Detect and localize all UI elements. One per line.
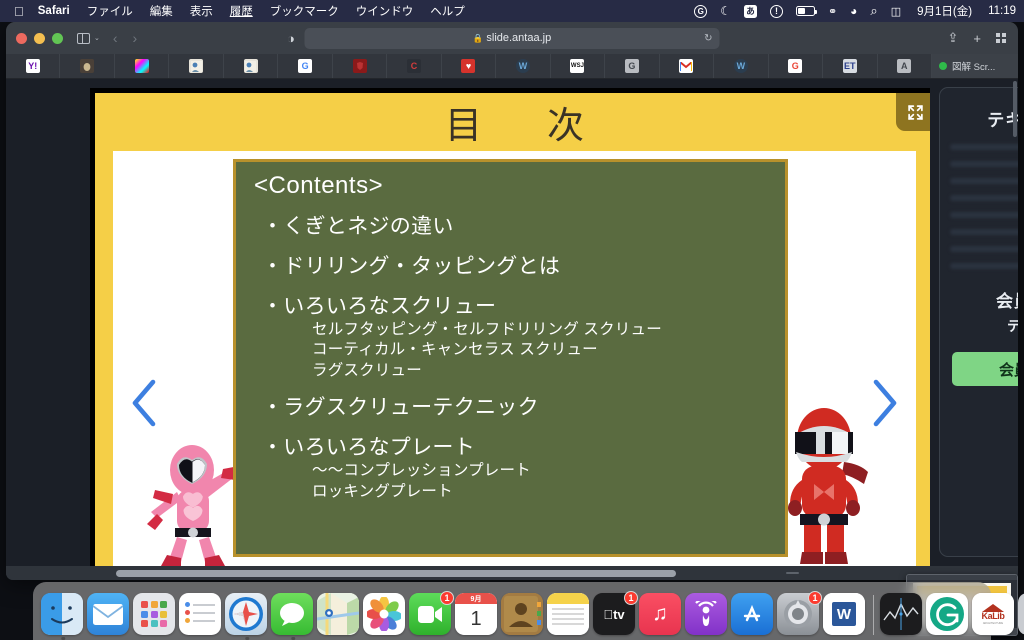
bookmark-et[interactable]: ET bbox=[823, 54, 877, 78]
url-text: slide.antaa.jp bbox=[486, 32, 551, 44]
dock-finder-running-dot bbox=[61, 637, 65, 640]
bookmark-heart-red[interactable]: ♥ bbox=[442, 54, 496, 78]
control-center-icon[interactable]: ◫ bbox=[891, 5, 901, 18]
bookmark-a-gray[interactable]: A bbox=[878, 54, 932, 78]
safari-window: ⌄ ‹ › ◑ 🔒 slide.antaa.jp ↻ ⇪ + Y!GC♥WWSJ… bbox=[6, 22, 1018, 580]
bookmark-gmail-favicon bbox=[679, 59, 693, 73]
sidebar-subtitle-2: テ bbox=[940, 316, 1018, 336]
dock-maps[interactable] bbox=[317, 593, 361, 637]
bookmark-dark-thumb-favicon bbox=[80, 59, 94, 73]
dock-system-settings-badge: 1 bbox=[808, 591, 822, 605]
clock-circle-icon[interactable]: ! bbox=[770, 5, 783, 18]
dock-reminders[interactable] bbox=[179, 593, 223, 637]
bookmark-crest-red[interactable] bbox=[333, 54, 387, 78]
tab-overview-icon[interactable] bbox=[996, 33, 1006, 43]
window-controls[interactable] bbox=[16, 33, 63, 44]
red-hero-mascot bbox=[780, 404, 868, 567]
dock-finder-icon bbox=[41, 593, 83, 635]
contents-subitem-8: 〜〜コンプレッションプレート bbox=[312, 461, 785, 481]
contents-item-6: ・ラグスクリューテクニック bbox=[262, 391, 785, 421]
menu-item-history[interactable]: 履歴 bbox=[230, 3, 253, 19]
dock-appletv[interactable]: tv1 bbox=[593, 593, 637, 637]
slide-title: 目 次 bbox=[95, 93, 934, 151]
dock-contacts[interactable] bbox=[501, 593, 545, 637]
dock-kalib[interactable]: KaLibARCHITECTURE bbox=[972, 593, 1016, 637]
dock-system-settings[interactable]: 1 bbox=[777, 593, 821, 637]
dock-safari[interactable] bbox=[225, 593, 269, 637]
expand-arrows-icon bbox=[907, 104, 924, 121]
chevron-left-icon bbox=[127, 377, 161, 429]
dock-podcasts-icon bbox=[685, 593, 727, 635]
contents-subitem-3: セルフタッピング・セルフドリリング スクリュー bbox=[312, 320, 785, 340]
input-source-japanese-icon[interactable]: あ bbox=[744, 5, 757, 18]
contents-box: <Contents> ・くぎとネジの違い ・ドリリング・タッピングとは ・いろい… bbox=[233, 159, 788, 557]
slide-body: <Contents> ・くぎとネジの違い ・ドリリング・タッピングとは ・いろい… bbox=[113, 151, 916, 567]
contents-heading: <Contents> bbox=[254, 172, 785, 200]
bookmark-google-favicon: G bbox=[298, 59, 312, 73]
dock-calendar-icon: 9月1 bbox=[455, 593, 497, 635]
toggle-sidebar-button[interactable]: ⌄ bbox=[77, 33, 100, 44]
bookmark-wsj-favicon: WSJ bbox=[570, 59, 584, 73]
bookmark-google[interactable]: G bbox=[278, 54, 332, 78]
dock-music[interactable]: ♫ bbox=[639, 593, 683, 637]
contents-item-7: ・いろいろなプレート bbox=[262, 431, 785, 461]
menu-item-help[interactable]: ヘルプ bbox=[430, 3, 465, 19]
tab-label: 図解 Scr... bbox=[952, 59, 995, 73]
macos-menu-bar:  Safari ファイル 編集 表示 履歴 ブックマーク ウインドウ ヘルプ … bbox=[0, 0, 1024, 22]
new-tab-button[interactable]: + bbox=[973, 31, 981, 46]
dock-finder[interactable] bbox=[41, 593, 85, 637]
battery-icon[interactable] bbox=[796, 6, 815, 16]
safari-toolbar: ⌄ ‹ › ◑ 🔒 slide.antaa.jp ↻ ⇪ + bbox=[6, 22, 1018, 54]
close-window-button[interactable] bbox=[16, 33, 27, 44]
dock-calendar[interactable]: 9月1 bbox=[455, 593, 499, 637]
forward-button[interactable]: › bbox=[133, 30, 138, 46]
nav-arrows[interactable]: ‹ › bbox=[113, 30, 137, 46]
dock-facetime[interactable]: 1 bbox=[409, 593, 453, 637]
pink-hero-mascot bbox=[147, 442, 239, 567]
bookmark-wordpress-1-favicon: W bbox=[516, 59, 530, 73]
dock-disc-utility[interactable] bbox=[1018, 593, 1024, 637]
macos-dock: 19月1tv1♫1WKaLibARCHITECTURE bbox=[33, 582, 991, 640]
web-page-content: 目 次 bbox=[6, 79, 1018, 580]
contents-subitem-5: ラグスクリュー bbox=[312, 361, 785, 381]
bookmark-dark-thumb[interactable] bbox=[60, 54, 114, 78]
share-icon[interactable]: ⇪ bbox=[948, 30, 959, 46]
dock-photos[interactable] bbox=[363, 593, 407, 637]
dock-separator-1 bbox=[873, 595, 874, 635]
reload-button[interactable]: ↻ bbox=[704, 33, 712, 44]
privacy-report-icon[interactable]: ◑ bbox=[287, 31, 295, 46]
menu-item-safari[interactable]: Safari bbox=[38, 5, 70, 17]
contents-item-2: ・いろいろなスクリュー bbox=[262, 290, 785, 320]
bookmark-wordpress-2[interactable]: W bbox=[714, 54, 768, 78]
bookmark-yahoo[interactable]: Y! bbox=[6, 54, 60, 78]
dock-mail-icon bbox=[87, 593, 129, 635]
contents-inner: <Contents> ・くぎとネジの違い ・ドリリング・タッピングとは ・いろい… bbox=[236, 162, 785, 502]
contents-subitem-4: コーティカル・キャンセラス スクリュー bbox=[312, 340, 785, 360]
dock-app-store-icon bbox=[731, 593, 773, 635]
bookmark-wordpress-1[interactable]: W bbox=[496, 54, 550, 78]
night-shift-moon-icon[interactable]: ☾ bbox=[720, 4, 731, 18]
dock-contacts-icon bbox=[501, 593, 543, 635]
dock-disc-utility-icon bbox=[1018, 593, 1024, 635]
dock-stocks-icon bbox=[880, 593, 922, 635]
dock-messages[interactable] bbox=[271, 593, 315, 637]
bookmark-google-2-favicon: G bbox=[788, 59, 802, 73]
dock-messages-icon bbox=[271, 593, 313, 635]
bookmark-doc-2-favicon bbox=[244, 59, 258, 73]
dock-launchpad-icon bbox=[133, 593, 175, 635]
bookmark-colorful-favicon bbox=[135, 59, 149, 73]
bookmark-et-favicon: ET bbox=[843, 59, 857, 73]
time-machine-icon[interactable]: ◕ bbox=[850, 4, 857, 18]
dock-grammarly-icon bbox=[926, 593, 968, 635]
toolbar-right-actions: ⇪ + bbox=[948, 30, 1007, 46]
dock-stocks[interactable] bbox=[880, 593, 924, 637]
bookmark-g-gray[interactable]: G bbox=[605, 54, 659, 78]
menu-bar-time[interactable]: 11:19 bbox=[988, 5, 1016, 17]
minimize-window-button[interactable] bbox=[34, 33, 45, 44]
dock-safari-running-dot bbox=[245, 637, 249, 640]
lock-icon: 🔒 bbox=[473, 33, 484, 44]
scrollbar-thumb[interactable] bbox=[116, 570, 676, 577]
dock-grammarly[interactable] bbox=[926, 593, 970, 637]
bookmark-doc-1-favicon bbox=[189, 59, 203, 73]
link-icon[interactable]: ⚭ bbox=[828, 5, 837, 18]
fullscreen-expand-button[interactable] bbox=[896, 93, 934, 131]
bookmark-wsj[interactable]: WSJ bbox=[551, 54, 605, 78]
bookmark-a-gray-favicon: A bbox=[897, 59, 911, 73]
dock-word-icon: W bbox=[823, 593, 865, 635]
grammarly-icon[interactable]: G bbox=[694, 5, 707, 18]
previous-slide-button[interactable] bbox=[127, 377, 161, 436]
dock-notes[interactable] bbox=[547, 593, 591, 637]
dock-appletv-badge: 1 bbox=[624, 591, 638, 605]
page-scrollbar-horizontal[interactable] bbox=[6, 566, 1018, 580]
menu-item-view[interactable]: 表示 bbox=[190, 3, 213, 19]
spotlight-search-icon[interactable]: ⌕ bbox=[870, 3, 877, 19]
bookmark-doc-2[interactable] bbox=[224, 54, 278, 78]
sidebar-title: テキス bbox=[940, 106, 1018, 131]
bookmark-yahoo-favicon: Y! bbox=[26, 59, 40, 73]
menu-item-file[interactable]: ファイル bbox=[87, 3, 133, 19]
menu-bar-date[interactable]: 9月1日(金) bbox=[917, 3, 972, 19]
dock-mail[interactable] bbox=[87, 593, 131, 637]
dock-maps-icon bbox=[317, 593, 359, 635]
dock-facetime-badge: 1 bbox=[440, 591, 454, 605]
bookmark-c-red[interactable]: C bbox=[387, 54, 441, 78]
bookmark-google-2[interactable]: G bbox=[769, 54, 823, 78]
tab-status-dot bbox=[939, 62, 947, 70]
dock-photos-icon bbox=[363, 593, 405, 635]
menu-item-bookmarks[interactable]: ブックマーク bbox=[270, 3, 339, 19]
bookmark-gmail[interactable] bbox=[660, 54, 714, 78]
dock-safari-icon bbox=[225, 593, 267, 635]
contents-item-0: ・くぎとネジの違い bbox=[262, 210, 785, 240]
dock-music-icon: ♫ bbox=[639, 593, 681, 635]
dock-launchpad[interactable] bbox=[133, 593, 177, 637]
dock-reminders-icon bbox=[179, 593, 221, 635]
page-scrollbar-vertical[interactable] bbox=[1013, 81, 1017, 137]
menu-item-edit[interactable]: 編集 bbox=[150, 3, 173, 19]
bookmark-wordpress-2-favicon: W bbox=[734, 59, 748, 73]
address-bar[interactable]: 🔒 slide.antaa.jp ↻ bbox=[305, 28, 720, 49]
menu-item-window[interactable]: ウインドウ bbox=[356, 3, 414, 19]
thumb-titlebar bbox=[907, 575, 1017, 580]
bookmark-doc-1[interactable] bbox=[169, 54, 223, 78]
back-button[interactable]: ‹ bbox=[113, 30, 118, 46]
dock-messages-running-dot bbox=[291, 637, 295, 640]
dock-notes-icon bbox=[547, 593, 589, 635]
bookmark-c-red-favicon: C bbox=[407, 59, 421, 73]
slide: 目 次 bbox=[95, 93, 934, 567]
bookmarks-bar: Y!GC♥WWSJGWGETA図解 Scr... bbox=[6, 54, 1018, 79]
apple-menu-icon[interactable]:  bbox=[14, 5, 24, 18]
chevron-right-icon bbox=[868, 377, 902, 429]
browser-tab-active[interactable]: 図解 Scr... bbox=[932, 54, 1018, 78]
slide-stage: 目 次 bbox=[90, 88, 939, 572]
contents-subitem-9: ロッキングプレート bbox=[312, 482, 785, 502]
bookmark-heart-red-favicon: ♥ bbox=[461, 59, 475, 73]
maximize-window-button[interactable] bbox=[52, 33, 63, 44]
dock-word[interactable]: W bbox=[823, 593, 867, 637]
bookmark-crest-red-favicon bbox=[353, 59, 367, 73]
next-slide-button[interactable] bbox=[868, 377, 902, 436]
dock-kalib-icon: KaLibARCHITECTURE bbox=[972, 593, 1014, 635]
contents-item-1: ・ドリリング・タッピングとは bbox=[262, 250, 785, 280]
bookmark-g-gray-favicon: G bbox=[625, 59, 639, 73]
sidebar-card: テキス 会員 テ 会員 bbox=[939, 87, 1018, 557]
right-sidebar-panel: テキス 会員 テ 会員 bbox=[930, 79, 1018, 580]
sidebar-blurred-text-block-1 bbox=[950, 144, 1018, 269]
chevron-down-icon: ⌄ bbox=[94, 34, 100, 42]
dock-app-store[interactable] bbox=[731, 593, 775, 637]
sidebar-subtitle-1: 会員 bbox=[940, 287, 1018, 312]
dock-podcasts[interactable] bbox=[685, 593, 729, 637]
scrollbar-nub bbox=[786, 572, 799, 574]
bookmark-colorful[interactable] bbox=[115, 54, 169, 78]
sidebar-cta-button[interactable]: 会員 bbox=[952, 352, 1018, 386]
sidebar-icon bbox=[77, 33, 90, 44]
